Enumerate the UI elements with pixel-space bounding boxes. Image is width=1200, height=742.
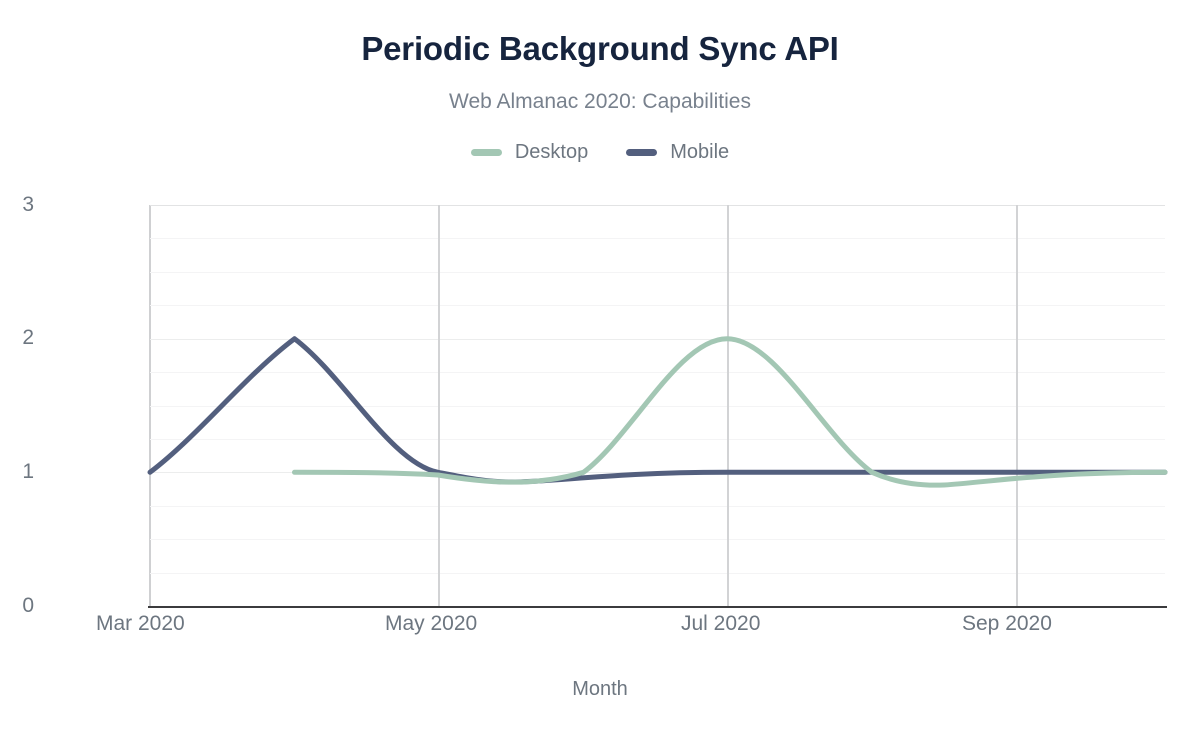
y-tick-1: 1 [0, 460, 34, 484]
series-layer [150, 205, 1165, 606]
x-tick-mar-2020: Mar 2020 [96, 612, 185, 636]
series-line-desktop [295, 339, 1166, 485]
legend-swatch-mobile [626, 149, 657, 156]
y-tick-3: 3 [0, 193, 34, 217]
series-line-mobile [150, 339, 1165, 482]
legend-item-desktop[interactable]: Desktop [471, 141, 588, 164]
y-tick-0: 0 [0, 594, 34, 618]
plot-area [150, 205, 1165, 606]
legend-swatch-desktop [471, 149, 502, 156]
legend-item-mobile[interactable]: Mobile [626, 141, 729, 164]
chart-subtitle: Web Almanac 2020: Capabilities [0, 90, 1200, 114]
y-tick-2: 2 [0, 326, 34, 350]
x-axis-label: Month [0, 678, 1200, 701]
legend-label-mobile: Mobile [670, 141, 729, 164]
chart-legend: Desktop Mobile [0, 141, 1200, 164]
x-axis-line [148, 606, 1167, 608]
chart-title: Periodic Background Sync API [0, 30, 1200, 68]
x-tick-jul-2020: Jul 2020 [681, 612, 760, 636]
legend-label-desktop: Desktop [515, 141, 588, 164]
y-axis-label: Number of top pages [0, 218, 1, 405]
chart-container: Periodic Background Sync API Web Almanac… [0, 0, 1200, 742]
x-tick-may-2020: May 2020 [385, 612, 477, 636]
x-tick-sep-2020: Sep 2020 [962, 612, 1052, 636]
